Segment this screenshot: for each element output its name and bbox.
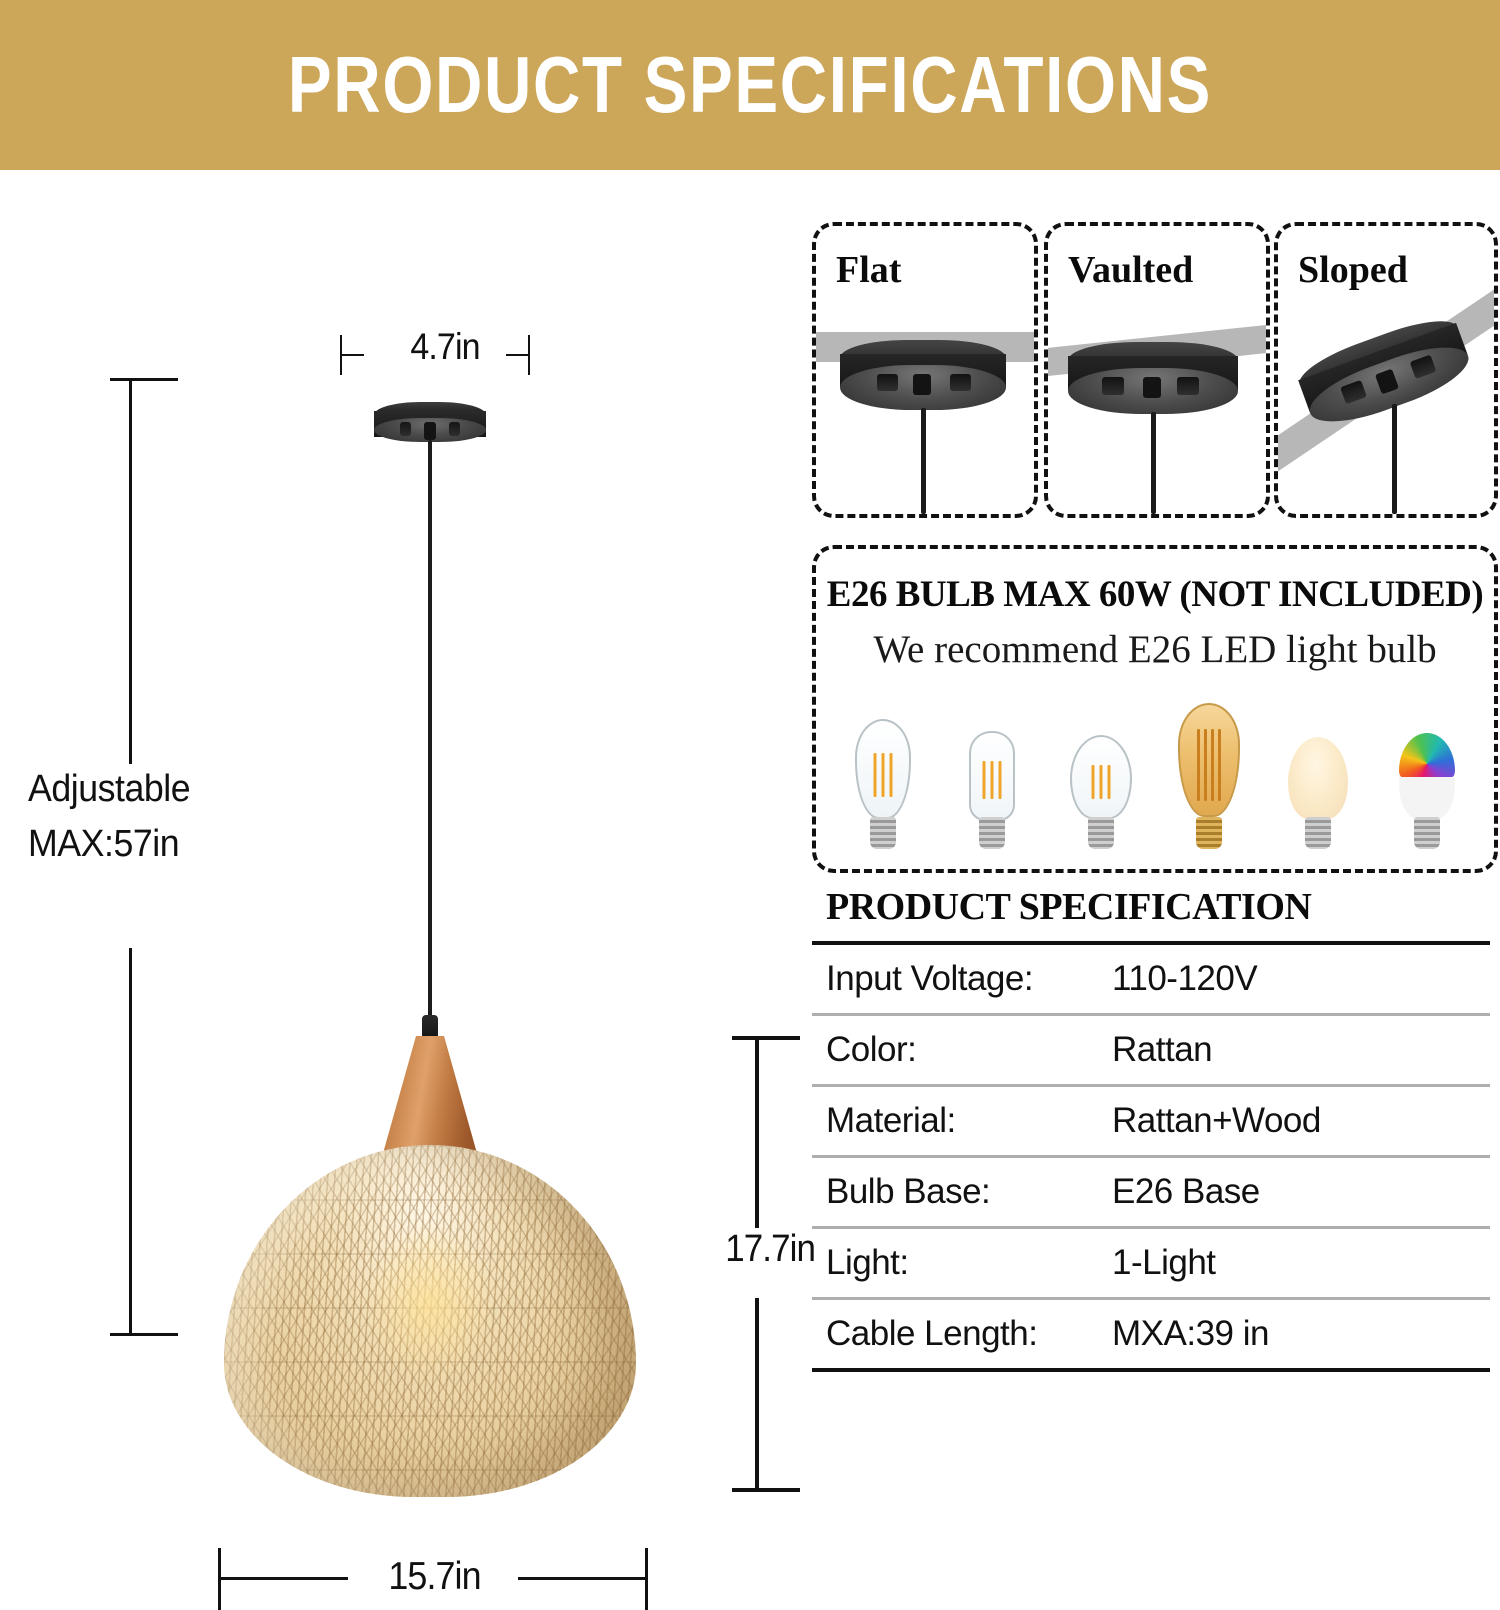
rgb-smart-bulb <box>1388 699 1466 849</box>
adjustable-dimension-cap-bottom <box>110 1333 178 1336</box>
bulb-filament <box>1091 765 1110 799</box>
spec-row-label: Cable Length: <box>812 1299 1112 1371</box>
ceiling-type-card-sloped: Sloped <box>1274 222 1498 518</box>
canopy-screw-left <box>400 422 411 436</box>
spec-row-value: E26 Base <box>1112 1157 1490 1228</box>
vaulted-ceiling-canopy-icon <box>1048 296 1266 514</box>
fixture-height-label: 17.7in <box>668 1228 815 1271</box>
bulb-e26-base <box>870 817 896 849</box>
dimension-bar-right <box>506 354 528 356</box>
adjustable-dimension-cap-top <box>110 378 178 381</box>
bulb-e26-base <box>1305 817 1331 849</box>
shade-width-label: 15.7in <box>359 1555 511 1599</box>
ceiling-canopy <box>374 402 486 444</box>
adjustable-height-label: Adjustable MAX:57in <box>28 762 263 872</box>
bulb-filament <box>982 761 1001 799</box>
table-row: Material:Rattan+Wood <box>812 1086 1490 1157</box>
spec-row-value: 110-120V <box>1112 943 1490 1015</box>
ceiling-type-label-sloped: Sloped <box>1298 248 1408 292</box>
canopy-screw-right <box>449 422 460 436</box>
adjustable-label-line1: Adjustable <box>28 762 263 817</box>
spec-row-label: Input Voltage: <box>812 943 1112 1015</box>
ceiling-type-card-flat: Flat <box>812 222 1038 518</box>
spec-table-panel: PRODUCT SPECIFICATION Input Voltage:110-… <box>812 885 1490 1372</box>
canopy-sloped <box>1293 310 1478 443</box>
canopy-cord-hub <box>1143 377 1162 398</box>
t45-tubular-filament-bulb <box>953 699 1031 849</box>
rattan-shade <box>224 1145 636 1497</box>
spec-table: Input Voltage:110-120VColor:RattanMateri… <box>812 941 1490 1372</box>
canopy-screw-right <box>950 374 972 391</box>
bulb-e26-base <box>979 817 1005 849</box>
adjustable-dimension-line-top <box>129 378 132 764</box>
bulb-headline: E26 BULB MAX 60W (NOT INCLUDED) <box>816 573 1494 616</box>
spec-row-value: Rattan+Wood <box>1112 1086 1490 1157</box>
shade-width-bar-right <box>518 1577 646 1580</box>
cord-vaulted <box>1151 412 1156 514</box>
bulb-type-row <box>844 699 1466 849</box>
spec-row-label: Bulb Base: <box>812 1157 1112 1228</box>
bulb-e26-base <box>1196 817 1222 849</box>
table-row: Bulb Base:E26 Base <box>812 1157 1490 1228</box>
bulb-e26-base <box>1414 817 1440 849</box>
spec-row-label: Light: <box>812 1228 1112 1299</box>
bulb-glass <box>1288 737 1348 819</box>
table-row: Input Voltage:110-120V <box>812 943 1490 1015</box>
spec-row-label: Color: <box>812 1015 1112 1086</box>
spec-row-value: 1-Light <box>1112 1228 1490 1299</box>
bulb-requirement-card: E26 BULB MAX 60W (NOT INCLUDED) We recom… <box>812 545 1498 873</box>
canopy-cord-hub <box>424 422 436 440</box>
shade-width-bar-left <box>220 1577 348 1580</box>
table-row: Color:Rattan <box>812 1015 1490 1086</box>
table-row: Light:1-Light <box>812 1228 1490 1299</box>
fixture-height-cap-top <box>732 1036 800 1040</box>
fixture-height-cap-bottom <box>732 1488 800 1492</box>
ceiling-type-card-vaulted: Vaulted <box>1044 222 1270 518</box>
st64-filament-bulb <box>844 699 922 849</box>
sloped-ceiling-canopy-icon <box>1278 296 1494 514</box>
spec-table-title: PRODUCT SPECIFICATION <box>812 885 1490 941</box>
canopy-flat <box>840 340 1006 418</box>
fixture-height-line-bottom <box>755 1298 759 1492</box>
cord-sloped <box>1392 404 1397 514</box>
bulb-filament <box>874 753 893 797</box>
dimension-bar-left <box>342 354 364 356</box>
spec-row-value: MXA:39 in <box>1112 1299 1490 1371</box>
frosted-warm-a19-bulb <box>1279 699 1357 849</box>
ceiling-type-label-flat: Flat <box>836 248 901 292</box>
bulb-filament <box>1197 729 1221 801</box>
product-diagram-panel: 4.7in Adjustable MAX:57in <box>0 170 800 1473</box>
canopy-width-label: 4.7in <box>394 326 495 368</box>
canopy-screw-left <box>877 374 899 391</box>
spec-row-value: Rattan <box>1112 1015 1490 1086</box>
a19-filament-bulb <box>1062 699 1140 849</box>
spec-row-label: Material: <box>812 1086 1112 1157</box>
hanging-cord <box>428 440 432 1040</box>
bulb-e26-base <box>1088 817 1114 849</box>
canopy-screw-left <box>1102 377 1124 395</box>
adjustable-label-line2: MAX:57in <box>28 817 263 872</box>
canopy-vaulted <box>1068 342 1238 422</box>
flat-ceiling-canopy-icon <box>816 296 1034 514</box>
vintage-amber-st64-bulb <box>1170 699 1248 849</box>
ceiling-type-label-vaulted: Vaulted <box>1068 248 1193 292</box>
canopy-cord-hub <box>913 374 931 394</box>
adjustable-dimension-line-bottom <box>129 948 132 1336</box>
page-title: PRODUCT SPECIFICATIONS <box>135 0 1365 170</box>
bulb-rgb-cap <box>1399 733 1455 777</box>
dimension-endcap-right <box>528 335 530 375</box>
fixture-height-line-top <box>755 1036 759 1228</box>
canopy-screw-right <box>1177 377 1199 395</box>
table-row: Cable Length:MXA:39 in <box>812 1299 1490 1371</box>
cord-flat <box>921 408 926 514</box>
bulb-subline: We recommend E26 LED light bulb <box>816 627 1494 672</box>
